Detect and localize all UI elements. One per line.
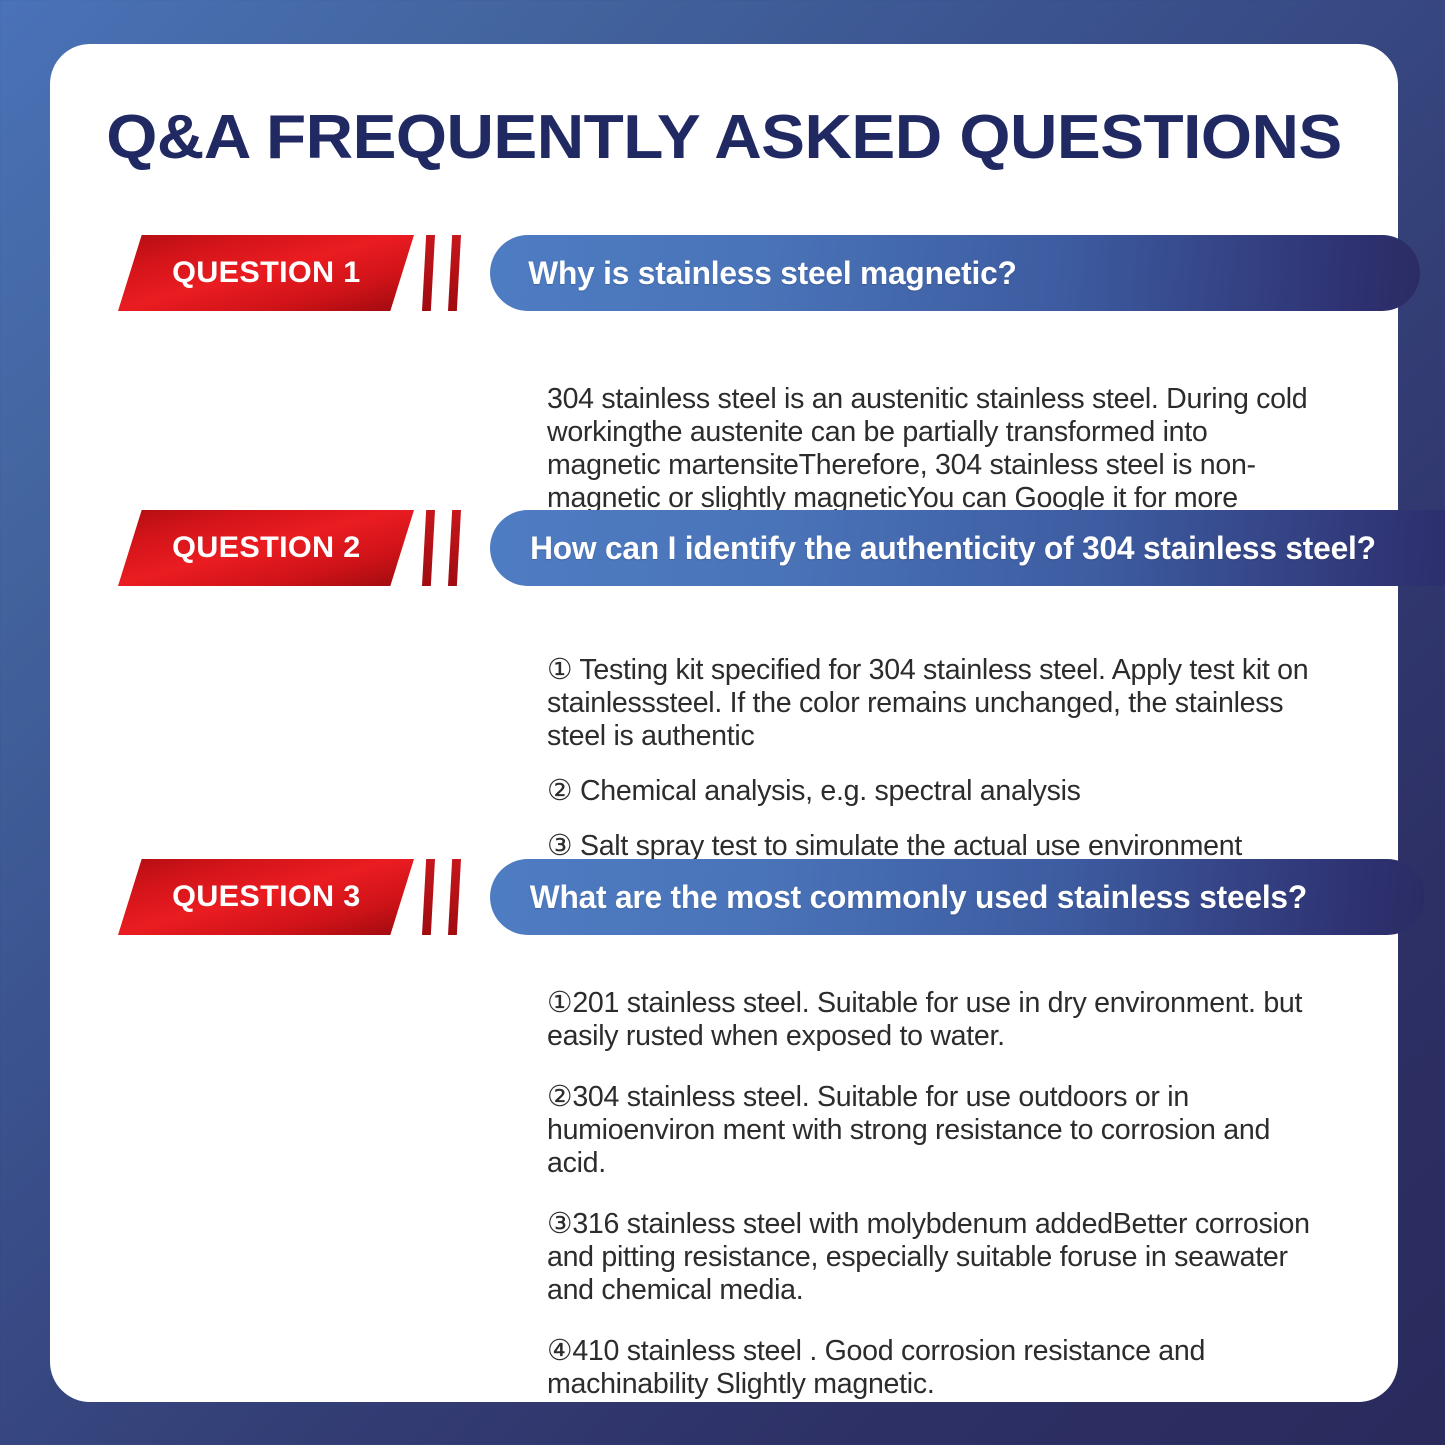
question-text-2: How can I identify the authenticity of 3… [494,530,1375,567]
faq-item-3: QUESTION 3 What are the most commonly us… [50,859,1398,941]
faq-banner-row-3: QUESTION 3 What are the most commonly us… [50,859,1398,941]
answer-block-2: ① Testing kit specified for 304 stainles… [547,654,1326,863]
question-text-3: What are the most commonly used stainles… [494,879,1307,916]
faq-banner-row-1: QUESTION 1 Why is stainless steel magnet… [50,235,1398,317]
answer-paragraph: ① Testing kit specified for 304 stainles… [547,654,1314,753]
question-banner-3[interactable]: What are the most commonly used stainles… [490,859,1425,935]
page-title: Q&A FREQUENTLY ASKED QUESTIONS [10,102,1439,173]
faq-item-1: QUESTION 1 Why is stainless steel magnet… [50,235,1398,317]
question-tag-label-2: QUESTION 2 [172,531,360,565]
question-tag-2[interactable]: QUESTION 2 [118,510,414,586]
slash-divider-icon-1b [448,235,461,311]
question-tag-1[interactable]: QUESTION 1 [118,235,414,311]
slash-divider-icon-3a [422,859,435,935]
answer-paragraph: ②304 stainless steel. Suitable for use o… [547,1081,1314,1180]
answer-paragraph: ④410 stainless steel . Good corrosion re… [547,1335,1314,1401]
faq-card: Q&A FREQUENTLY ASKED QUESTIONS QUESTION … [50,44,1398,1402]
slash-divider-icon-1a [422,235,435,311]
faq-item-2: QUESTION 2 How can I identify the authen… [50,510,1398,592]
question-banner-2[interactable]: How can I identify the authenticity of 3… [490,510,1445,586]
answer-block-3: ①201 stainless steel. Suitable for use i… [547,987,1326,1401]
answer-paragraph: ② Chemical analysis, e.g. spectral analy… [547,775,1314,808]
slash-divider-icon-2b [448,510,461,586]
answer-paragraph: ③316 stainless steel with molybdenum add… [547,1208,1314,1307]
question-banner-1[interactable]: Why is stainless steel magnetic? [490,235,1420,311]
question-tag-label-1: QUESTION 1 [172,256,360,290]
question-text-1: Why is stainless steel magnetic? [493,255,1017,292]
slash-divider-icon-3b [448,859,461,935]
answer-paragraph: ①201 stainless steel. Suitable for use i… [547,987,1314,1053]
question-tag-3[interactable]: QUESTION 3 [118,859,414,935]
slash-divider-icon-2a [422,510,435,586]
question-tag-label-3: QUESTION 3 [172,880,360,914]
faq-banner-row-2: QUESTION 2 How can I identify the authen… [50,510,1398,592]
